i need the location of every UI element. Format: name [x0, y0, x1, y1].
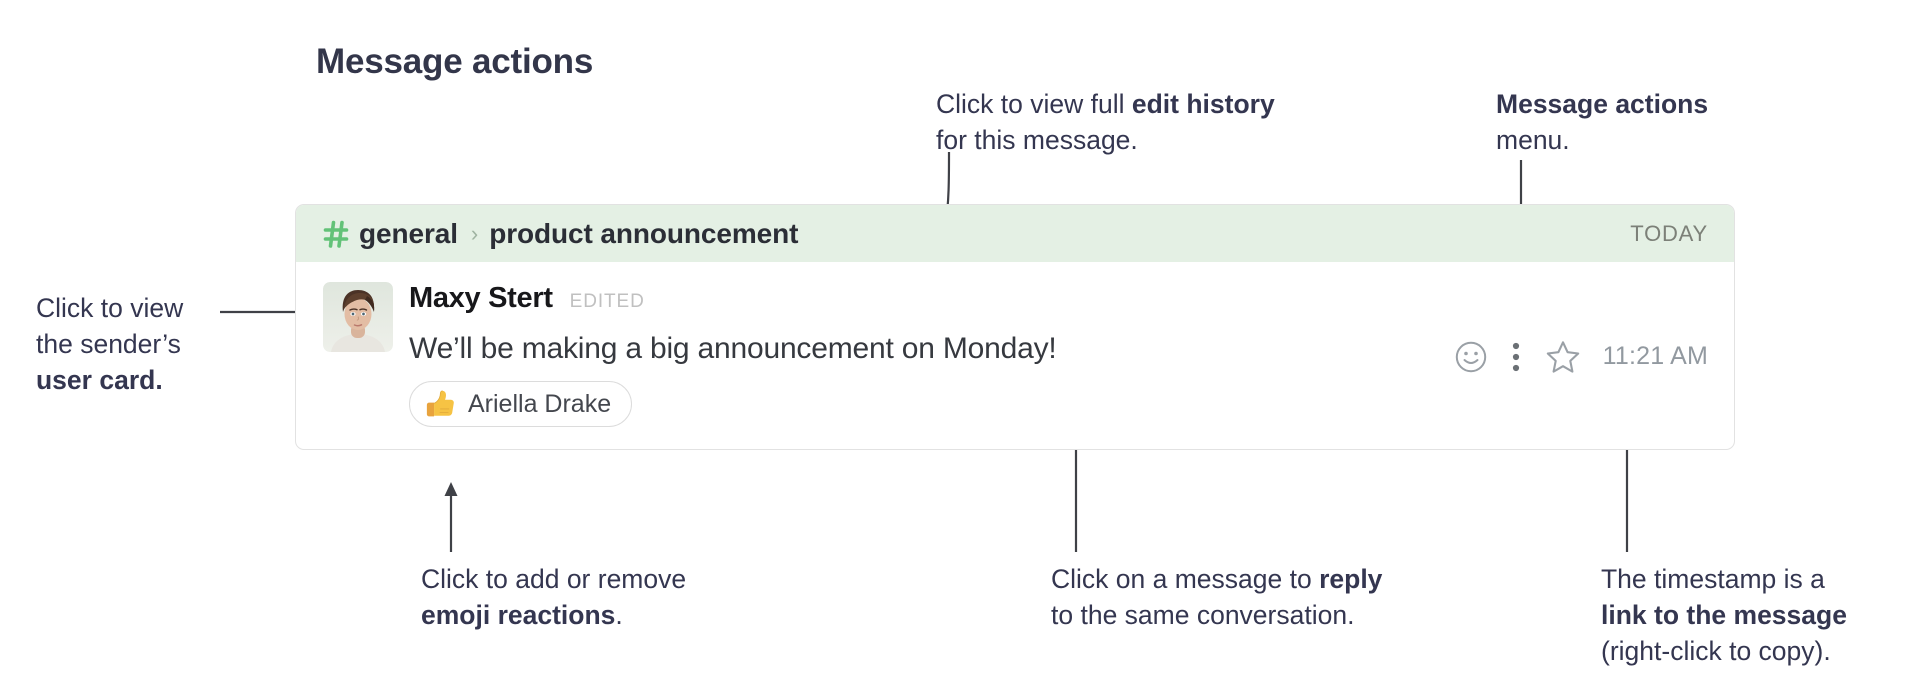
page-title: Message actions	[316, 42, 593, 82]
annotation-timestamp: The timestamp is a link to the message (…	[1601, 561, 1847, 669]
emoji-react-icon[interactable]	[1454, 340, 1488, 374]
annotation-user-card: Click to view the sender’s user card.	[36, 290, 183, 398]
sender-line: Maxy Stert EDITED	[409, 282, 1454, 318]
message-controls: 11:21 AM	[1454, 286, 1708, 427]
breadcrumb-chevron-icon: ›	[471, 221, 478, 247]
annotation-actions-menu-line1: Message actions	[1496, 86, 1708, 122]
annotation-edit-history-line1-pre: Click to view full	[936, 89, 1132, 119]
message-card: general › product announcement TODAY	[295, 204, 1735, 450]
annotation-actions-menu-line2: menu.	[1496, 122, 1708, 158]
topic-name-link[interactable]: product announcement	[489, 218, 798, 250]
annotation-reactions: Click to add or remove emoji reactions.	[421, 561, 686, 633]
annotation-edit-history-line2: for this message.	[936, 122, 1275, 158]
annotation-user-card-line2: the sender’s	[36, 326, 183, 362]
arrowhead-reactions	[445, 482, 458, 496]
annotation-reactions-line2-bold: emoji reactions	[421, 600, 615, 630]
reaction-pill[interactable]: Ariella Drake	[409, 381, 632, 427]
sender-name-link[interactable]: Maxy Stert	[409, 282, 553, 315]
annotation-reactions-line2-post: .	[615, 600, 622, 630]
annotation-edit-history-line1-bold: edit history	[1132, 89, 1275, 119]
annotation-reactions-line1: Click to add or remove	[421, 561, 686, 597]
avatar[interactable]	[323, 282, 393, 352]
annotation-timestamp-line2: link to the message	[1601, 597, 1847, 633]
annotation-timestamp-line3: (right-click to copy).	[1601, 633, 1847, 669]
annotation-reply-line1-bold: reply	[1319, 564, 1382, 594]
annotation-edit-history: Click to view full edit history for this…	[936, 86, 1275, 158]
message-main: Maxy Stert EDITED We’ll be making a big …	[409, 282, 1454, 427]
annotation-actions-menu: Message actions menu.	[1496, 86, 1708, 158]
annotation-reply-line2: to the same conversation.	[1051, 597, 1382, 633]
reaction-label: Ariella Drake	[468, 390, 611, 419]
thumbs-up-emoji	[423, 387, 457, 421]
reactions-row: Ariella Drake	[409, 381, 1454, 427]
annotation-user-card-line1: Click to view	[36, 290, 183, 326]
edited-marker[interactable]: EDITED	[570, 291, 645, 313]
annotation-timestamp-line1: The timestamp is a	[1601, 561, 1847, 597]
annotation-reply: Click on a message to reply to the same …	[1051, 561, 1382, 633]
annotation-reply-line1-pre: Click on a message to	[1051, 564, 1319, 594]
message-timestamp-link[interactable]: 11:21 AM	[1603, 342, 1708, 371]
message-content[interactable]: We’ll be making a big announcement on Mo…	[409, 332, 1454, 366]
hash-icon	[323, 219, 349, 249]
star-icon[interactable]	[1545, 339, 1581, 375]
recipient-bar: general › product announcement TODAY	[296, 205, 1734, 262]
annotation-user-card-line3: user card.	[36, 362, 183, 398]
recipient-date-label[interactable]: TODAY	[1630, 221, 1708, 247]
message-row[interactable]: Maxy Stert EDITED We’ll be making a big …	[296, 262, 1734, 449]
stream-name-link[interactable]: general	[359, 218, 458, 250]
message-actions-menu-icon[interactable]	[1512, 342, 1520, 372]
